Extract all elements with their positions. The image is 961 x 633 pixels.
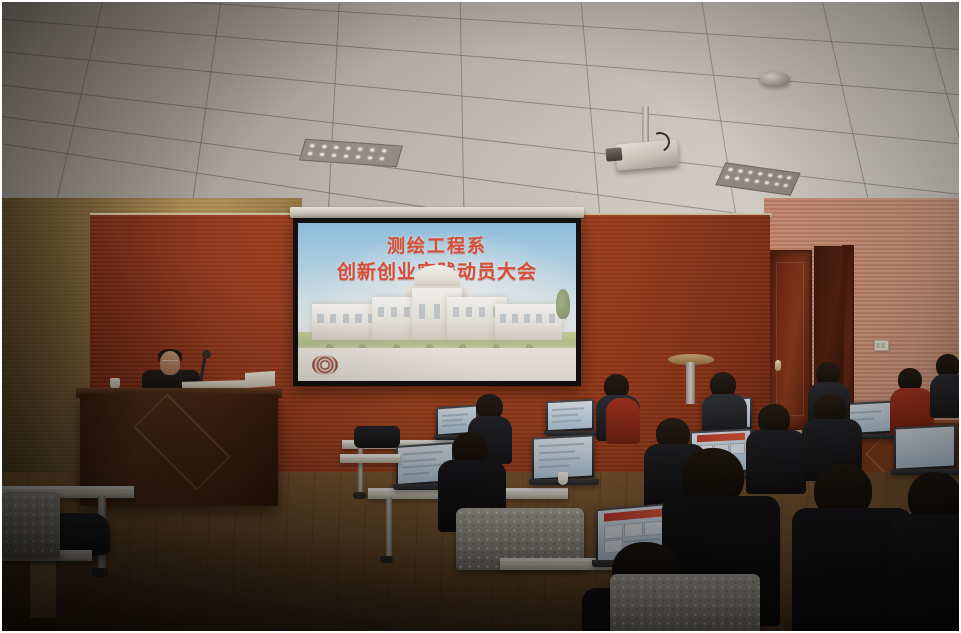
slide-building [312, 270, 562, 340]
round-side-table-stem [686, 362, 695, 404]
projection-screen-case [290, 207, 584, 218]
projector-mount-pole [642, 106, 649, 144]
chair-c1[interactable] [610, 574, 760, 633]
slide-footer-band [298, 348, 576, 381]
podium-nameplate [245, 371, 275, 388]
slide-title-line-1: 测绘工程系 [298, 232, 576, 258]
projection-screen: 测绘工程系 创新创业实践动员大会 [298, 223, 576, 381]
paper-cup-1 [558, 472, 568, 485]
laptop-8[interactable] [894, 426, 960, 476]
presenter-glasses [162, 360, 178, 365]
chair-empty-left[interactable] [2, 492, 60, 558]
desk-shelf-left [30, 558, 56, 618]
light-switch[interactable] [874, 340, 889, 351]
desk-row-a2 [340, 454, 400, 463]
university-seal-icon [312, 355, 338, 375]
classroom-photo: 测绘工程系 创新创业实践动员大会 [0, 0, 961, 633]
microphone-icon [202, 350, 211, 359]
door-handle-icon [775, 360, 781, 371]
door-left[interactable] [768, 250, 812, 430]
laptop-2[interactable] [546, 400, 598, 436]
projector-lens [605, 147, 622, 161]
smoke-detector-icon [760, 72, 790, 86]
projection-screen-frame: 测绘工程系 创新创业实践动员大会 [293, 218, 581, 386]
bag-on-desk [354, 426, 400, 448]
